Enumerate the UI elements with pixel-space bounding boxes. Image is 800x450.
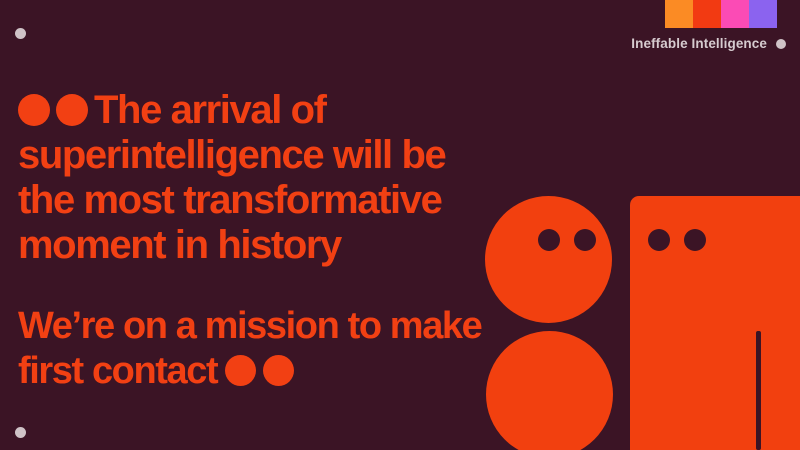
- block-mascot-eye-right-icon: [684, 229, 706, 251]
- block-mascot-slit: [756, 331, 761, 450]
- round-mascot-eye-left-icon: [538, 229, 560, 251]
- round-mascot-head: [485, 196, 612, 323]
- round-mascot-eye-right-icon: [574, 229, 596, 251]
- mascot-illustration: [0, 0, 800, 450]
- block-mascot-eye-left-icon: [648, 229, 670, 251]
- slide-canvas: Ineffable Intelligence The arrival of su…: [0, 0, 800, 450]
- round-mascot-body: [486, 331, 613, 450]
